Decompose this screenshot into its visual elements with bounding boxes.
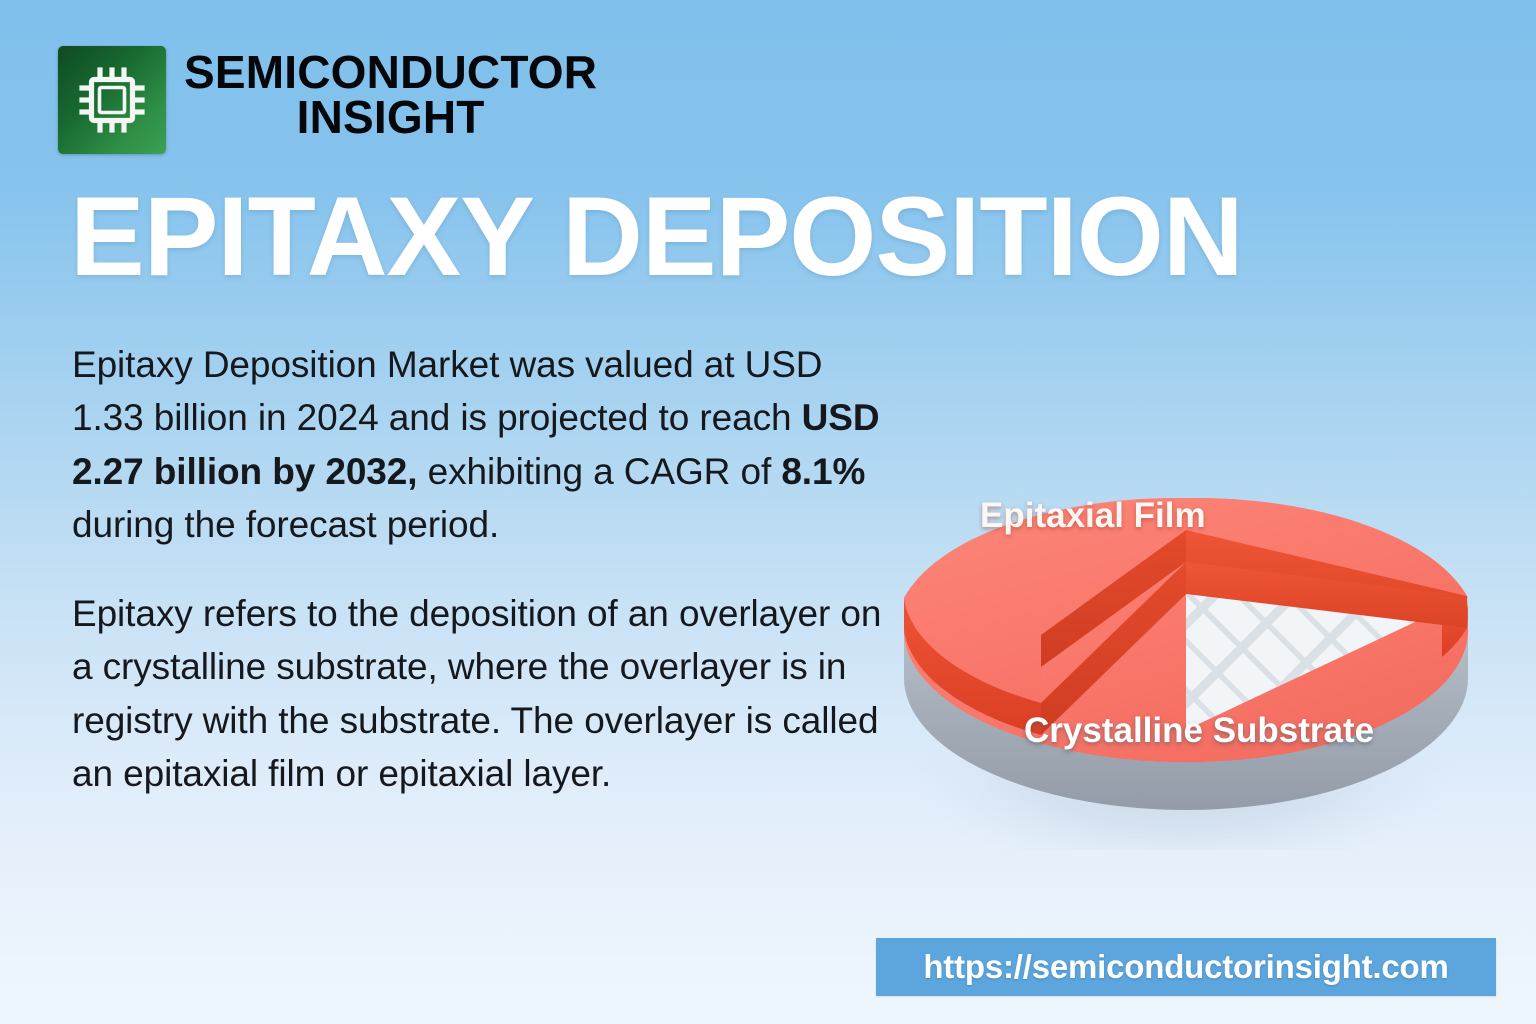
infographic-poster: SEMICONDUCTOR INSIGHT EPITAXY DEPOSITION… — [0, 0, 1536, 1024]
epitaxy-wafer-diagram: Epitaxial Film Crystalline Substrate — [876, 380, 1496, 850]
paragraph-market-value: Epitaxy Deposition Market was valued at … — [72, 338, 892, 551]
website-url-bar[interactable]: https://semiconductorinsight.com — [876, 938, 1496, 996]
brand-name-line2: INSIGHT — [184, 95, 597, 140]
paragraph-definition: Epitaxy refers to the deposition of an o… — [72, 587, 892, 800]
p1-part3: during the forecast period. — [72, 504, 499, 545]
p1-part1: Epitaxy Deposition Market was valued at … — [72, 344, 822, 438]
p1-bold-cagr: 8.1% — [781, 451, 865, 492]
p1-part2: exhibiting a CAGR of — [417, 451, 781, 492]
brand-name-line1: SEMICONDUCTOR — [184, 50, 597, 95]
logo-tile — [58, 46, 166, 154]
microchip-icon — [73, 61, 151, 139]
website-url-text: https://semiconductorinsight.com — [923, 948, 1448, 986]
page-title: EPITAXY DEPOSITION — [70, 181, 1243, 293]
body-copy: Epitaxy Deposition Market was valued at … — [72, 338, 892, 800]
brand-lockup: SEMICONDUCTOR INSIGHT — [58, 46, 597, 154]
brand-name: SEMICONDUCTOR INSIGHT — [184, 46, 597, 139]
